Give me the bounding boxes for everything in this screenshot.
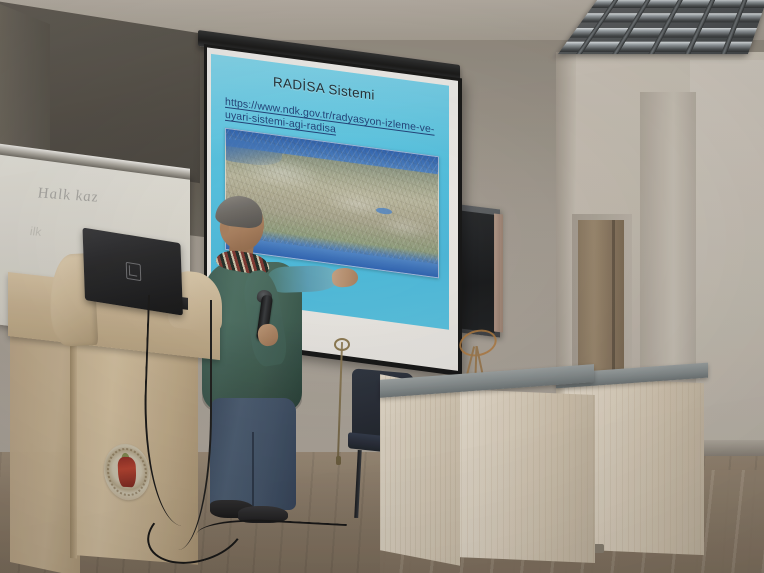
screen-cord-tip[interactable]	[336, 456, 341, 465]
wall-monitor-mount	[494, 213, 503, 332]
jeans-seam	[252, 432, 254, 510]
equipment-stand	[455, 330, 499, 374]
desk-front-body	[455, 389, 595, 563]
presentation-room-photo: Halk kaz ilk RADİSA Sistemi https://www.…	[0, 0, 764, 573]
desk-front-side	[380, 374, 460, 566]
emblem-crest	[117, 456, 136, 487]
hp-logo-icon	[126, 262, 142, 281]
podium-corner-edge	[70, 330, 77, 559]
stand-leg	[474, 346, 477, 376]
cable-floor-run	[195, 516, 347, 562]
